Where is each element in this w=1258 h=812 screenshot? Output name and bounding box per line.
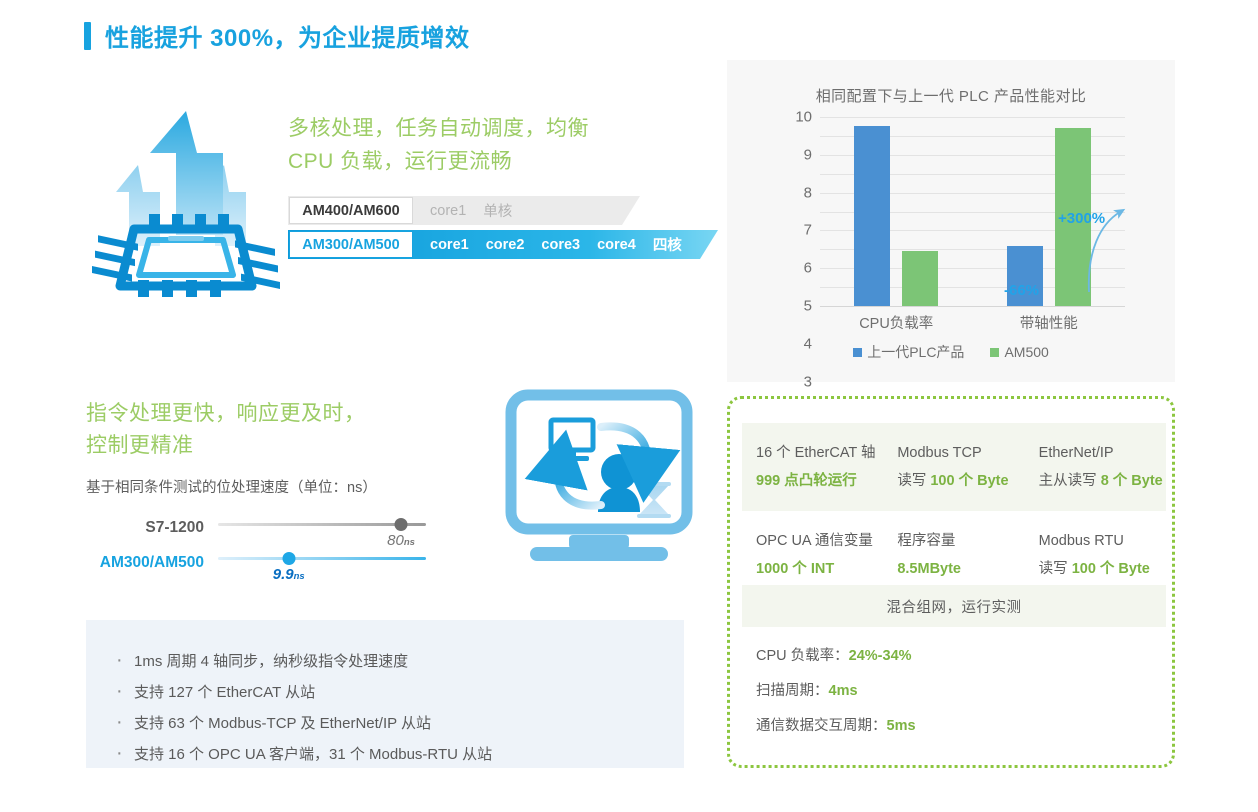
- spec-stats-list: CPU 负载率：24%-34%扫描周期：4ms通信数据交互周期：5ms: [742, 639, 1166, 744]
- spec-cell-key: Modbus RTU: [1039, 527, 1166, 555]
- spec-cell: Modbus TCP读写 100 个 Byte: [883, 423, 1024, 511]
- spec-cell-value: 主从读写 8 个 Byte: [1039, 467, 1166, 495]
- feature-bullet-item: 1ms 周期 4 轴同步，纳秒级指令处理速度: [114, 646, 684, 677]
- chart-y-tick-label: 10: [795, 110, 812, 125]
- spec-stat-line: CPU 负载率：24%-34%: [756, 639, 1166, 674]
- chart-plot-area: 012345678910 -66% +300%: [820, 117, 1125, 306]
- slider-track-am300-am500[interactable]: 9.9ns: [218, 546, 426, 580]
- chart-y-tick-label: 9: [804, 147, 812, 162]
- chart-x-tick-label: CPU负载率: [859, 312, 933, 333]
- spec-panel: 16 个 EtherCAT 轴999 点凸轮运行Modbus TCP读写 100…: [727, 396, 1175, 768]
- spec-cell-key: 16 个 EtherCAT 轴: [756, 439, 883, 467]
- core-row-am400-am600: AM400/AM600 core1 单核: [288, 196, 718, 225]
- spec-band-label: 混合组网，运行实测: [742, 585, 1166, 627]
- core-row-name-am300: AM300/AM500: [289, 231, 413, 258]
- speed-subtitle: 基于相同条件测试的位处理速度（单位：ns）: [86, 476, 377, 497]
- spec-cell: 16 个 EtherCAT 轴999 点凸轮运行: [742, 423, 883, 511]
- core-chip-2: core2: [486, 237, 525, 253]
- spec-cell-value: 8.5MByte: [897, 555, 1024, 583]
- slider-track-fill-blue: [218, 557, 426, 560]
- slider-label-am300-am500: AM300/AM500: [86, 546, 218, 571]
- core-row-name-am400: AM400/AM600: [289, 197, 413, 224]
- slider-row-am300-am500: AM300/AM500 9.9ns: [86, 546, 426, 580]
- spec-cell-value: 读写 100 个 Byte: [897, 467, 1024, 495]
- speed-sliders: S7-1200 80ns AM300/AM500 9.9ns: [86, 512, 426, 580]
- core-row-tag-am400: 单核: [483, 200, 512, 221]
- chart-legend: 上一代PLC产品 AM500: [727, 342, 1175, 362]
- spec-cell-value: 999 点凸轮运行: [756, 467, 883, 495]
- chart-x-axis-labels: CPU负载率带轴性能: [820, 312, 1125, 332]
- legend-item-am500: AM500: [990, 344, 1048, 360]
- page-header: 性能提升 300%，为企业提质增效: [84, 18, 470, 53]
- feature-bullet-item: 支持 127 个 EtherCAT 从站: [114, 677, 684, 708]
- slider-knob-s7-1200[interactable]: [395, 518, 408, 531]
- speed-heading-line1: 指令处理更快，响应更及时，: [86, 398, 466, 430]
- core-comparison-rows: AM400/AM600 core1 单核 AM300/: [288, 196, 718, 264]
- chart-annotation-cpu: -66%: [1004, 282, 1039, 299]
- multicore-heading-line1: 多核处理，任务自动调度，均衡: [288, 112, 658, 145]
- spec-cell-key: 程序容量: [897, 527, 1024, 555]
- core-row-am300-am500: AM300/AM500 core1 core2 core3 core4 四核: [288, 230, 718, 259]
- slider-value-unit-am300: ns: [294, 571, 305, 582]
- core-chip-1: core1: [430, 203, 466, 219]
- core-chip-4: core4: [597, 237, 636, 253]
- speed-heading: 指令处理更快，响应更及时， 控制更精准: [86, 398, 466, 462]
- core-chip-3: core3: [541, 237, 580, 253]
- spec-cell: EtherNet/IP主从读写 8 个 Byte: [1025, 423, 1166, 511]
- spec-cell-value: 读写 100 个 Byte: [1039, 555, 1166, 583]
- slider-label-s7-1200: S7-1200: [86, 512, 218, 536]
- feature-bullet-panel: 1ms 周期 4 轴同步，纳秒级指令处理速度支持 127 个 EtherCAT …: [86, 620, 684, 768]
- chart-title: 相同配置下与上一代 PLC 产品性能对比: [727, 85, 1175, 106]
- chart-bar: [854, 126, 890, 306]
- slider-value-number-am300: 9.9: [273, 566, 294, 583]
- core-row-tag-am300: 四核: [653, 234, 682, 255]
- chart-bar: [902, 251, 938, 306]
- spec-cell-key: Modbus TCP: [897, 439, 1024, 467]
- feature-bullet-list: 1ms 周期 4 轴同步，纳秒级指令处理速度支持 127 个 EtherCAT …: [86, 620, 684, 770]
- slider-track-s7-1200[interactable]: 80ns: [218, 512, 426, 546]
- performance-chart-panel: 相同配置下与上一代 PLC 产品性能对比 012345678910 -66% +…: [727, 60, 1175, 382]
- core-row-list-am400: core1 单核: [413, 200, 512, 221]
- chart-y-tick-label: 7: [804, 223, 812, 238]
- header-accent-bar: [84, 22, 91, 50]
- legend-label-am500: AM500: [1004, 344, 1048, 360]
- chart-gridline: 0: [820, 306, 1125, 307]
- chart-y-tick-label: 5: [804, 299, 812, 314]
- spec-cell-value: 1000 个 INT: [756, 555, 883, 583]
- slider-value-am300-am500: 9.9ns: [273, 566, 305, 584]
- legend-swatch-blue: [853, 348, 862, 357]
- core-row-list-am300: core1 core2 core3 core4 四核: [413, 234, 682, 255]
- slider-knob-am300-am500[interactable]: [282, 552, 295, 565]
- legend-swatch-green: [990, 348, 999, 357]
- spec-grid: 16 个 EtherCAT 轴999 点凸轮运行Modbus TCP读写 100…: [742, 423, 1166, 599]
- chart-annotation-axis: +300%: [1058, 210, 1105, 227]
- monitor-user-sync-icon: [497, 387, 713, 573]
- speed-heading-line2: 控制更精准: [86, 430, 466, 462]
- multicore-heading-line2: CPU 负载，运行更流畅: [288, 145, 658, 178]
- feature-bullet-item: 支持 63 个 Modbus-TCP 及 EtherNet/IP 从站: [114, 708, 684, 739]
- core-chip-1: core1: [430, 237, 469, 253]
- multicore-heading: 多核处理，任务自动调度，均衡 CPU 负载，运行更流畅: [288, 112, 658, 178]
- chart-x-tick-label: 带轴性能: [1020, 312, 1078, 333]
- spec-stat-line: 通信数据交互周期：5ms: [756, 709, 1166, 744]
- cpu-chip-icon: [92, 98, 280, 303]
- legend-label-prev-plc: 上一代PLC产品: [867, 342, 964, 362]
- legend-item-prev-plc: 上一代PLC产品: [853, 342, 964, 362]
- chart-y-tick-label: 6: [804, 261, 812, 276]
- slide-root: 性能提升 300%，为企业提质增效: [0, 0, 1258, 812]
- chart-y-tick-label: 3: [804, 374, 812, 389]
- spec-cell-key: EtherNet/IP: [1039, 439, 1166, 467]
- feature-bullet-item: 支持 16 个 OPC UA 客户端，31 个 Modbus-RTU 从站: [114, 739, 684, 770]
- spec-cell-key: OPC UA 通信变量: [756, 527, 883, 555]
- slider-row-s7-1200: S7-1200 80ns: [86, 512, 426, 546]
- page-title: 性能提升 300%，为企业提质增效: [105, 18, 470, 53]
- chart-y-tick-label: 8: [804, 185, 812, 200]
- spec-stat-line: 扫描周期：4ms: [756, 674, 1166, 709]
